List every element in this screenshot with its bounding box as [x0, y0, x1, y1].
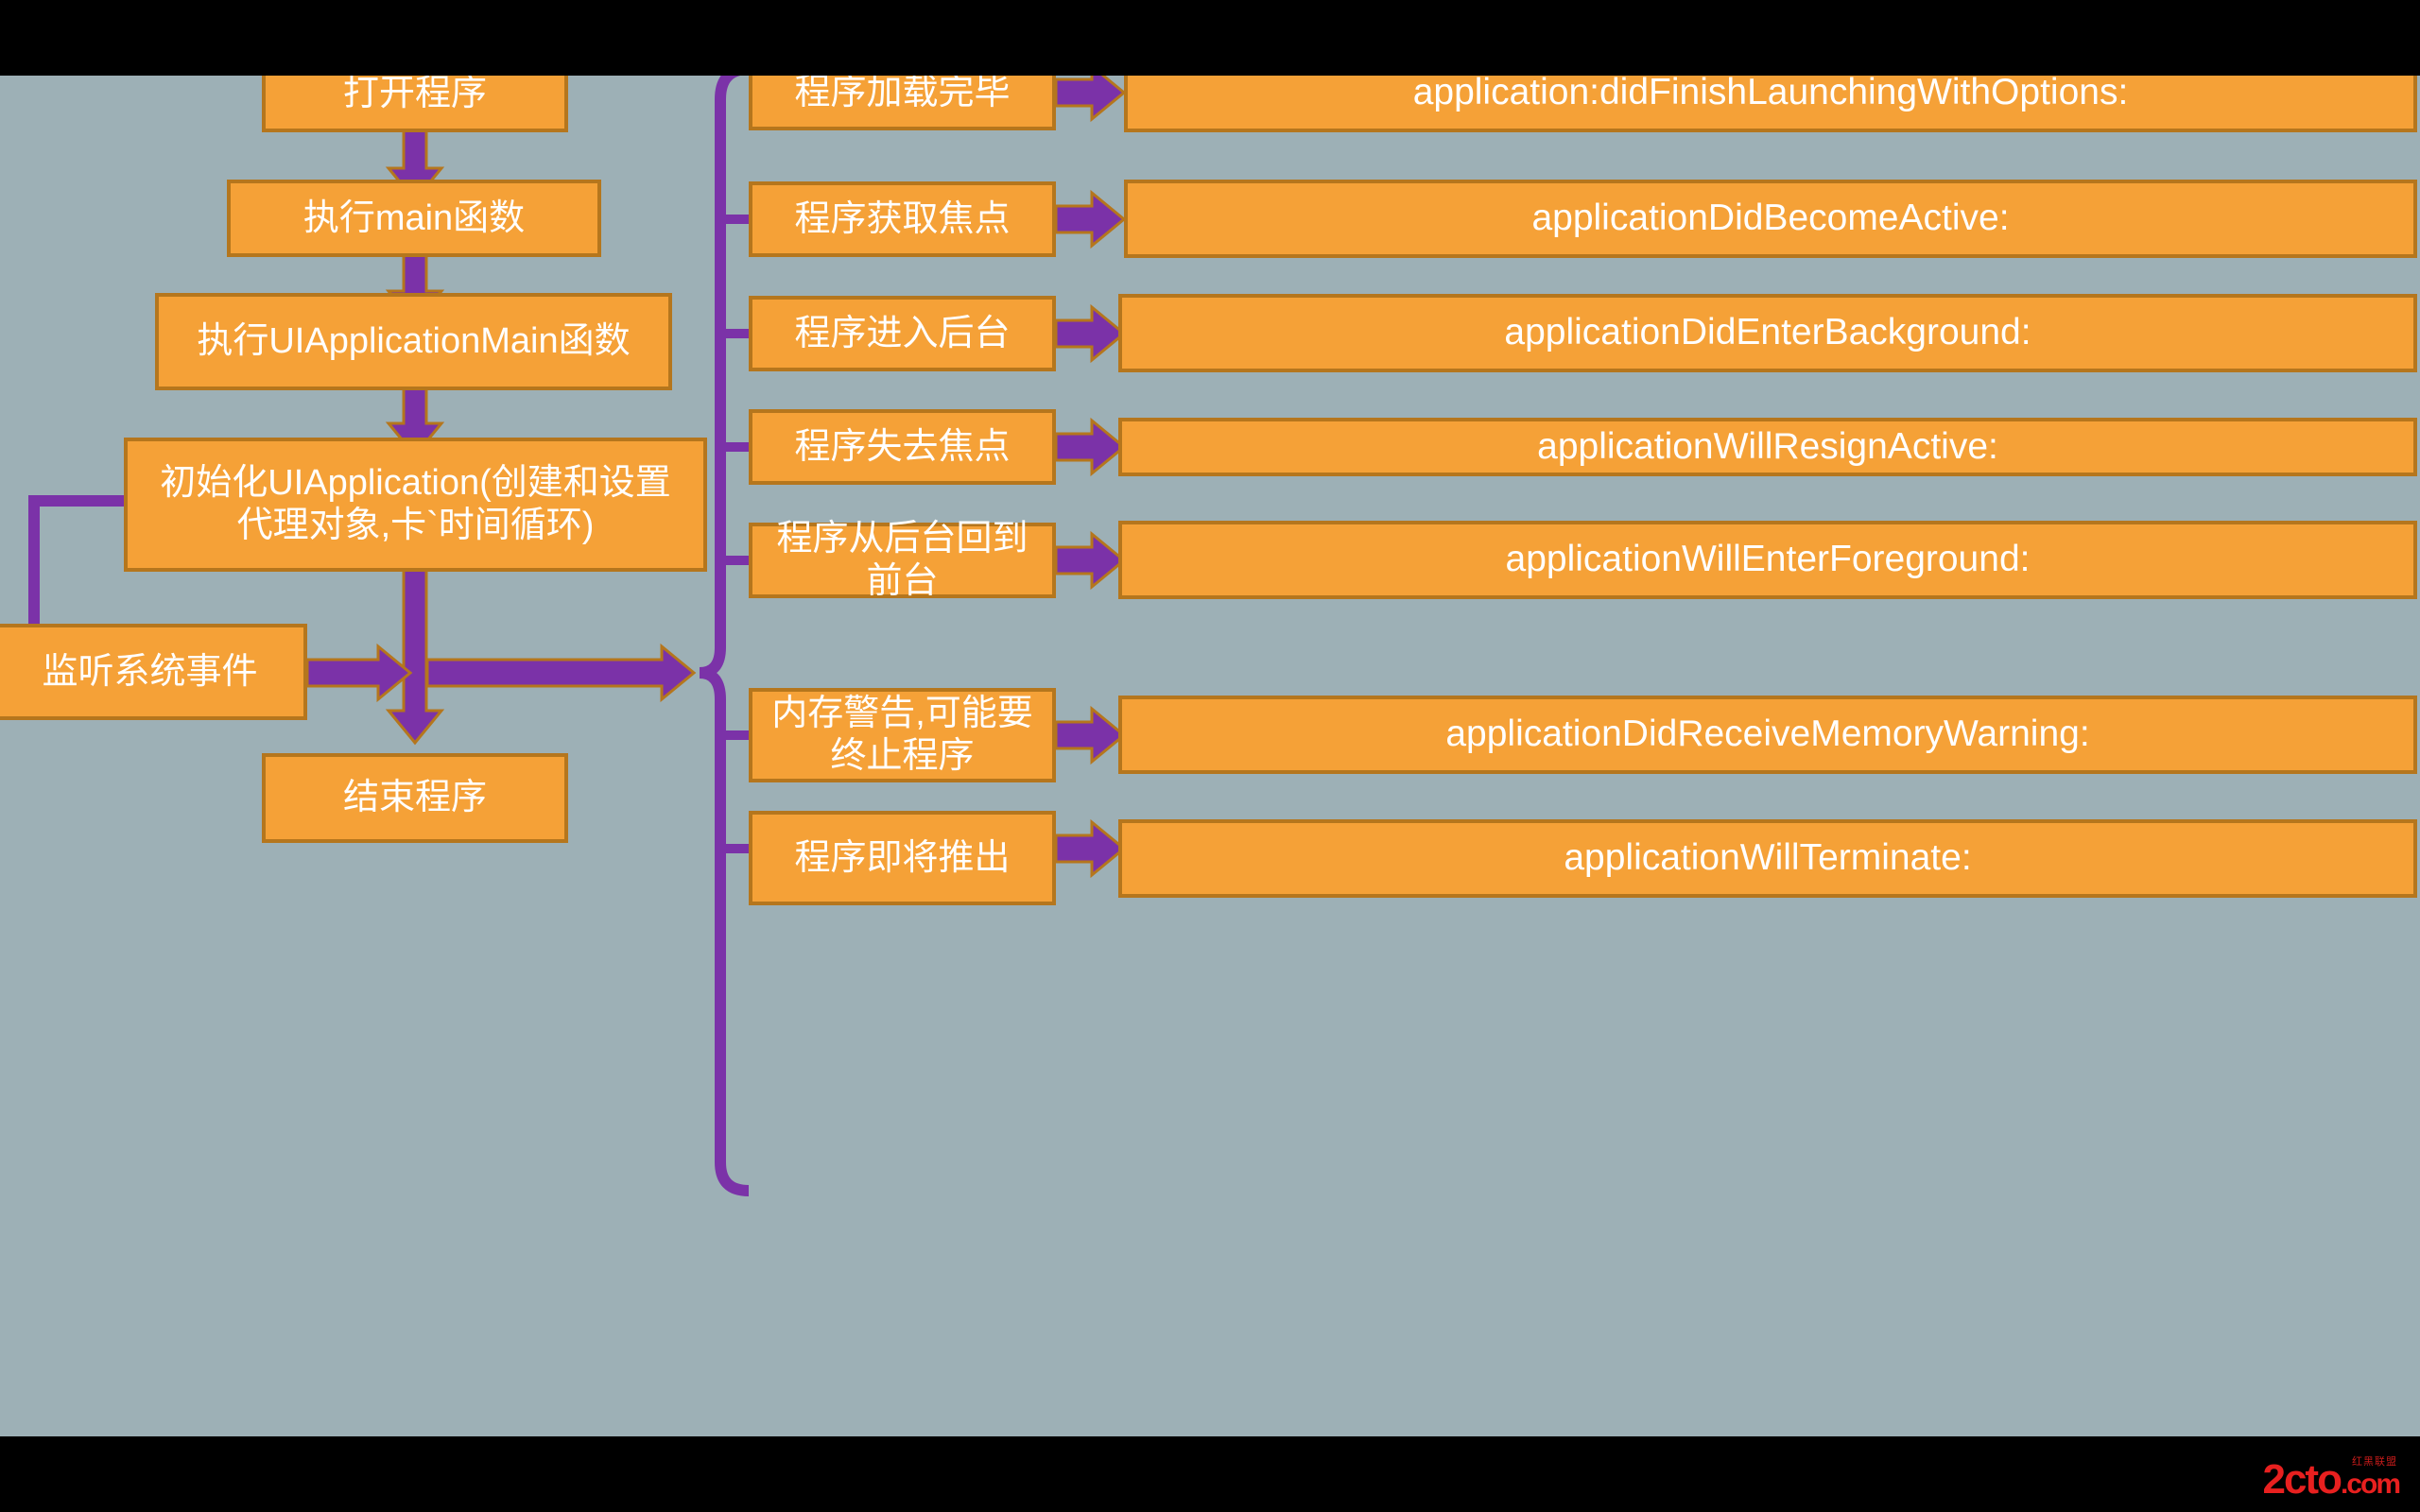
arrow-event-to-callback-1 — [1056, 76, 1124, 119]
event-label: 内存警告,可能要终止程序 — [762, 693, 1043, 778]
callback-label: applicationWillTerminate: — [1564, 836, 1971, 880]
watermark-suffix: .com — [2341, 1469, 2399, 1500]
event-label: 程序从后台回到前台 — [762, 518, 1043, 603]
callback-label: applicationWillEnterForeground: — [1506, 538, 2031, 581]
arrow-event-to-callback-2 — [1056, 193, 1124, 246]
callback-box-7[interactable]: applicationWillTerminate: — [1118, 819, 2417, 898]
event-label: 程序即将推出 — [794, 837, 1010, 880]
event-box-5[interactable]: 程序从后台回到前台 — [749, 523, 1056, 598]
callback-box-2[interactable]: applicationDidBecomeActive: — [1124, 180, 2417, 258]
event-box-4[interactable]: 程序失去焦点 — [749, 409, 1056, 485]
event-box-6[interactable]: 内存警告,可能要终止程序 — [749, 688, 1056, 782]
event-box-7[interactable]: 程序即将推出 — [749, 811, 1056, 905]
flow-node-label: 监听系统事件 — [42, 651, 257, 694]
flow-node-run-main[interactable]: 执行main函数 — [227, 180, 601, 257]
flow-node-listen-events[interactable]: 监听系统事件 — [0, 624, 307, 720]
arrow-event-to-callback-7 — [1056, 822, 1124, 875]
callback-box-5[interactable]: applicationWillEnterForeground: — [1118, 521, 2417, 599]
flow-node-label: 打开程序 — [343, 76, 487, 114]
flow-node-end-app[interactable]: 结束程序 — [262, 753, 568, 843]
callback-label: applicationWillResignActive: — [1537, 425, 1998, 469]
watermark-subtext: 红黑联盟 — [2352, 1453, 2397, 1469]
callback-box-1[interactable]: application:didFinishLaunchingWithOption… — [1124, 76, 2417, 132]
event-box-2[interactable]: 程序获取焦点 — [749, 181, 1056, 257]
watermark-text: 2cto — [2262, 1456, 2340, 1503]
event-branch-tree — [700, 76, 749, 1191]
event-label: 程序失去焦点 — [794, 426, 1010, 469]
arrow-event-to-callback-3 — [1056, 307, 1124, 360]
arrow-event-to-callback-6 — [1056, 709, 1124, 762]
callback-box-4[interactable]: applicationWillResignActive: — [1118, 418, 2417, 476]
arrow-event-to-callback-4 — [1056, 421, 1124, 473]
callback-label: application:didFinishLaunchingWithOption… — [1413, 76, 2129, 115]
flow-node-init-uiapp[interactable]: 初始化UIApplication(创建和设置代理对象,卡`时间循环) — [124, 438, 707, 572]
flow-node-label: 执行main函数 — [303, 198, 525, 240]
event-box-1[interactable]: 程序加载完毕 — [749, 76, 1056, 130]
flow-node-label: 初始化UIApplication(创建和设置代理对象,卡`时间循环) — [145, 462, 686, 547]
event-label: 程序进入后台 — [794, 313, 1010, 355]
callback-label: applicationDidBecomeActive: — [1531, 197, 2009, 240]
flow-node-label: 结束程序 — [343, 777, 487, 819]
event-label: 程序获取焦点 — [794, 198, 1010, 241]
arrow-trunk-to-branch — [427, 646, 694, 699]
event-box-3[interactable]: 程序进入后台 — [749, 296, 1056, 371]
event-label: 程序加载完毕 — [794, 76, 1010, 113]
arrow-listen-to-trunk — [307, 646, 410, 699]
callback-label: applicationDidEnterBackground: — [1504, 311, 2031, 354]
callback-label: applicationDidReceiveMemoryWarning: — [1445, 713, 2089, 756]
arrow-init-to-end — [389, 570, 441, 743]
callback-box-6[interactable]: applicationDidReceiveMemoryWarning: — [1118, 696, 2417, 774]
flow-node-open-app[interactable]: 打开程序 — [262, 76, 568, 132]
diagram-area: 打开程序 执行main函数 执行UIApplicationMain函数 初始化U… — [0, 76, 2420, 1436]
flow-node-run-uiappmain[interactable]: 执行UIApplicationMain函数 — [155, 293, 672, 390]
flow-node-label: 执行UIApplicationMain函数 — [197, 320, 630, 363]
slide-canvas: 打开程序 执行main函数 执行UIApplicationMain函数 初始化U… — [0, 0, 2420, 1512]
callback-box-3[interactable]: applicationDidEnterBackground: — [1118, 294, 2417, 372]
arrow-event-to-callback-5 — [1056, 534, 1124, 587]
